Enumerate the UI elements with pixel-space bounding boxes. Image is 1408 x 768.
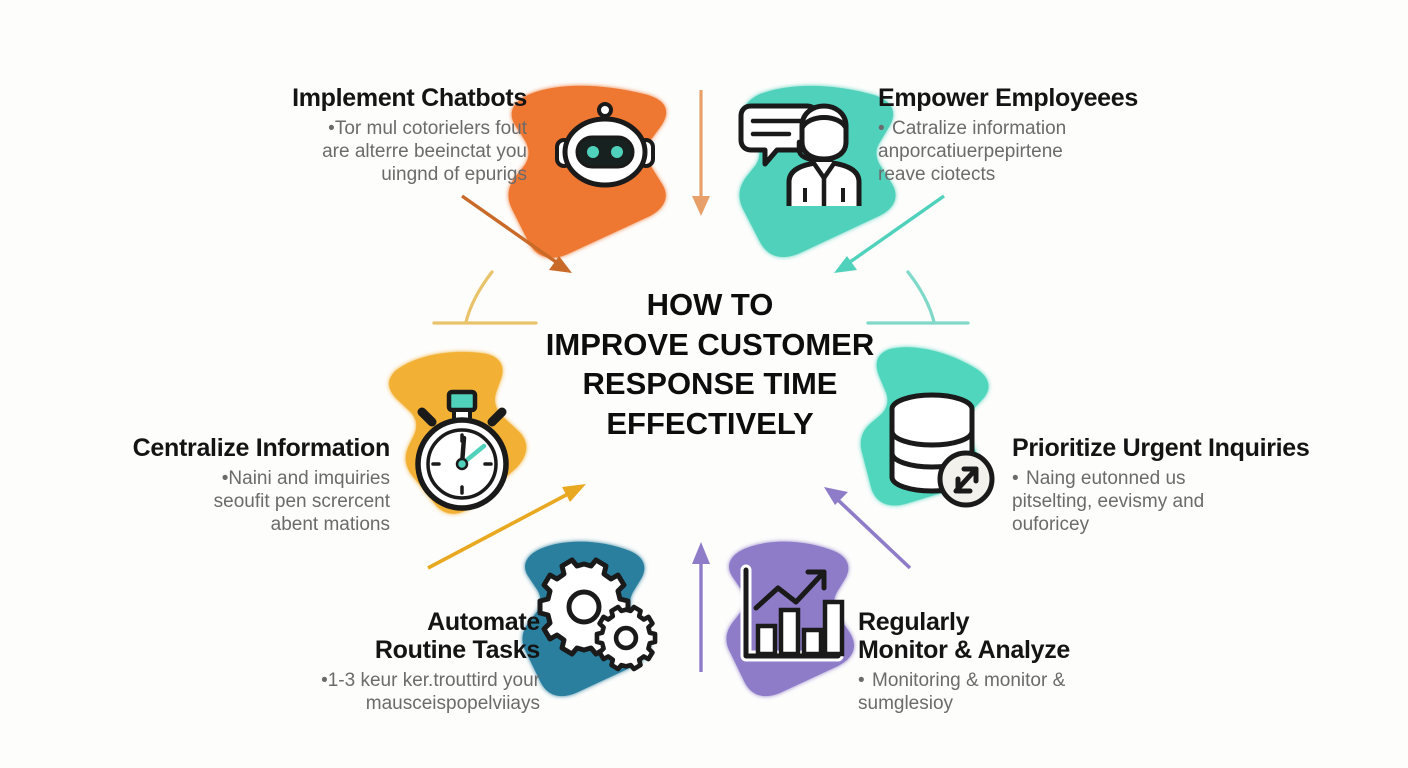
- node-title-line: Monitor & Analyze: [858, 636, 1188, 664]
- node-body-line: •Naini and imquiries: [108, 467, 390, 490]
- node-body-line: •Tor mul cotorielers fout: [215, 117, 527, 140]
- node-title-line: Routine Tasks: [230, 636, 540, 664]
- node-title-automate-routine-tasks: Automate Routine Tasks: [230, 608, 540, 664]
- arrow-top-down: [692, 90, 710, 216]
- node-body-line: anporcatiuerpepirtene: [878, 140, 1198, 163]
- node-body-line: sumglesioy: [858, 692, 1188, 715]
- bullet-icon: •: [878, 117, 892, 140]
- center-headline-line-3: RESPONSE TIME: [520, 364, 900, 404]
- node-empower-employees[interactable]: Empower Employeees •Catralize informatio…: [878, 84, 1198, 187]
- node-body-line: •Monitoring & monitor &: [858, 669, 1188, 692]
- node-body-implement-chatbots: •Tor mul cotorielers fout are alterre be…: [215, 117, 527, 187]
- bullet-icon: •: [858, 669, 872, 692]
- node-title-implement-chatbots: Implement Chatbots: [215, 84, 527, 112]
- node-regularly-monitor-analyze[interactable]: Regularly Monitor & Analyze •Monitoring …: [858, 608, 1188, 715]
- node-prioritize-urgent-inquiries[interactable]: Prioritize Urgent Inquiries •Naing euton…: [1012, 434, 1342, 537]
- node-title-prioritize-urgent-inquiries: Prioritize Urgent Inquiries: [1012, 434, 1342, 462]
- node-implement-chatbots[interactable]: Implement Chatbots •Tor mul cotorielers …: [215, 84, 527, 187]
- bullet-icon: •: [1012, 467, 1026, 490]
- bullet-icon: •: [321, 117, 335, 140]
- node-body-line: mausceispopelviiays: [230, 692, 540, 715]
- bullet-icon: •: [314, 669, 328, 692]
- arc-amber: [466, 272, 492, 322]
- node-body-automate-routine-tasks: •1-3 keur ker.trouttird your mausceispop…: [230, 669, 540, 715]
- node-body-line: •Naing eutonned us: [1012, 467, 1342, 490]
- node-body-empower-employees: •Catralize information anporcatiuerpepir…: [878, 117, 1198, 187]
- node-title-line: Regularly: [858, 608, 1188, 636]
- node-body-centralize-information: •Naini and imquiries seoufit pen screrce…: [108, 467, 390, 537]
- bullet-icon: •: [214, 467, 228, 490]
- node-automate-routine-tasks[interactable]: Automate Routine Tasks •1-3 keur ker.tro…: [230, 608, 540, 715]
- node-title-line: Automate: [230, 608, 540, 636]
- node-title-centralize-information: Centralize Information: [108, 434, 390, 462]
- node-body-line: •1-3 keur ker.trouttird your: [230, 669, 540, 692]
- node-body-line: pitselting, eevismy and: [1012, 490, 1342, 513]
- node-body-line: reave ciotects: [878, 163, 1198, 186]
- database-sort-icon: [892, 395, 992, 505]
- arrow-bottom-up: [692, 542, 710, 672]
- node-body-line: •Catralize information: [878, 117, 1198, 140]
- center-headline-line-1: HOW TO: [520, 285, 900, 325]
- center-headline-line-2: IMPROVE CUSTOMER: [520, 325, 900, 365]
- node-body-line: abent mations: [108, 513, 390, 536]
- arc-teal: [908, 272, 934, 322]
- node-body-line: are alterre beeinctat you: [215, 140, 527, 163]
- node-centralize-information[interactable]: Centralize Information •Naini and imquir…: [108, 434, 390, 537]
- node-body-line: uingnd of epurigs: [215, 163, 527, 186]
- center-headline: HOW TO IMPROVE CUSTOMER RESPONSE TIME EF…: [520, 285, 900, 444]
- node-body-line: ouforicey: [1012, 513, 1342, 536]
- infographic-canvas: HOW TO IMPROVE CUSTOMER RESPONSE TIME EF…: [0, 0, 1408, 768]
- node-body-regularly-monitor-analyze: •Monitoring & monitor & sumglesioy: [858, 669, 1188, 715]
- node-title-regularly-monitor-analyze: Regularly Monitor & Analyze: [858, 608, 1188, 664]
- node-title-empower-employees: Empower Employeees: [878, 84, 1198, 112]
- node-body-line: seoufit pen scrercent: [108, 490, 390, 513]
- node-body-prioritize-urgent-inquiries: •Naing eutonned us pitselting, eevismy a…: [1012, 467, 1342, 537]
- center-headline-line-4: EFFECTIVELY: [520, 404, 900, 444]
